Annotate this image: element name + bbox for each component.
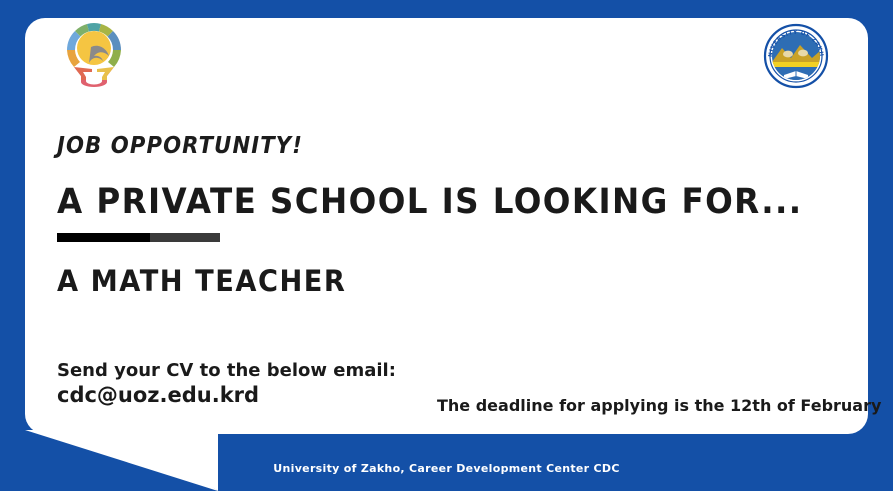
- cdc-lightbulb-logo: [60, 22, 128, 90]
- contact-email[interactable]: cdc@uoz.edu.krd: [57, 383, 259, 407]
- speech-bubble-tail: [25, 430, 225, 491]
- job-opportunity-poster: UoZ CAREER DEVELOPMENT CENTER: [0, 0, 893, 491]
- divider-segment-gray: [150, 233, 220, 242]
- headline-text: A PRIVATE SCHOOL IS LOOKING FOR...: [57, 182, 802, 222]
- deadline-text: The deadline for applying is the 12th of…: [437, 396, 881, 415]
- divider-segment-dark: [57, 233, 150, 242]
- kicker-text: JOB OPPORTUNITY!: [57, 133, 303, 159]
- cv-instruction: Send your CV to the below email:: [57, 360, 396, 381]
- university-of-zakho-seal: UNIVERSITY OF ZAKHO: [758, 18, 834, 94]
- position-title: A MATH TEACHER: [57, 264, 346, 298]
- footer-text: University of Zakho, Career Development …: [0, 462, 893, 475]
- divider-bar: [57, 233, 220, 242]
